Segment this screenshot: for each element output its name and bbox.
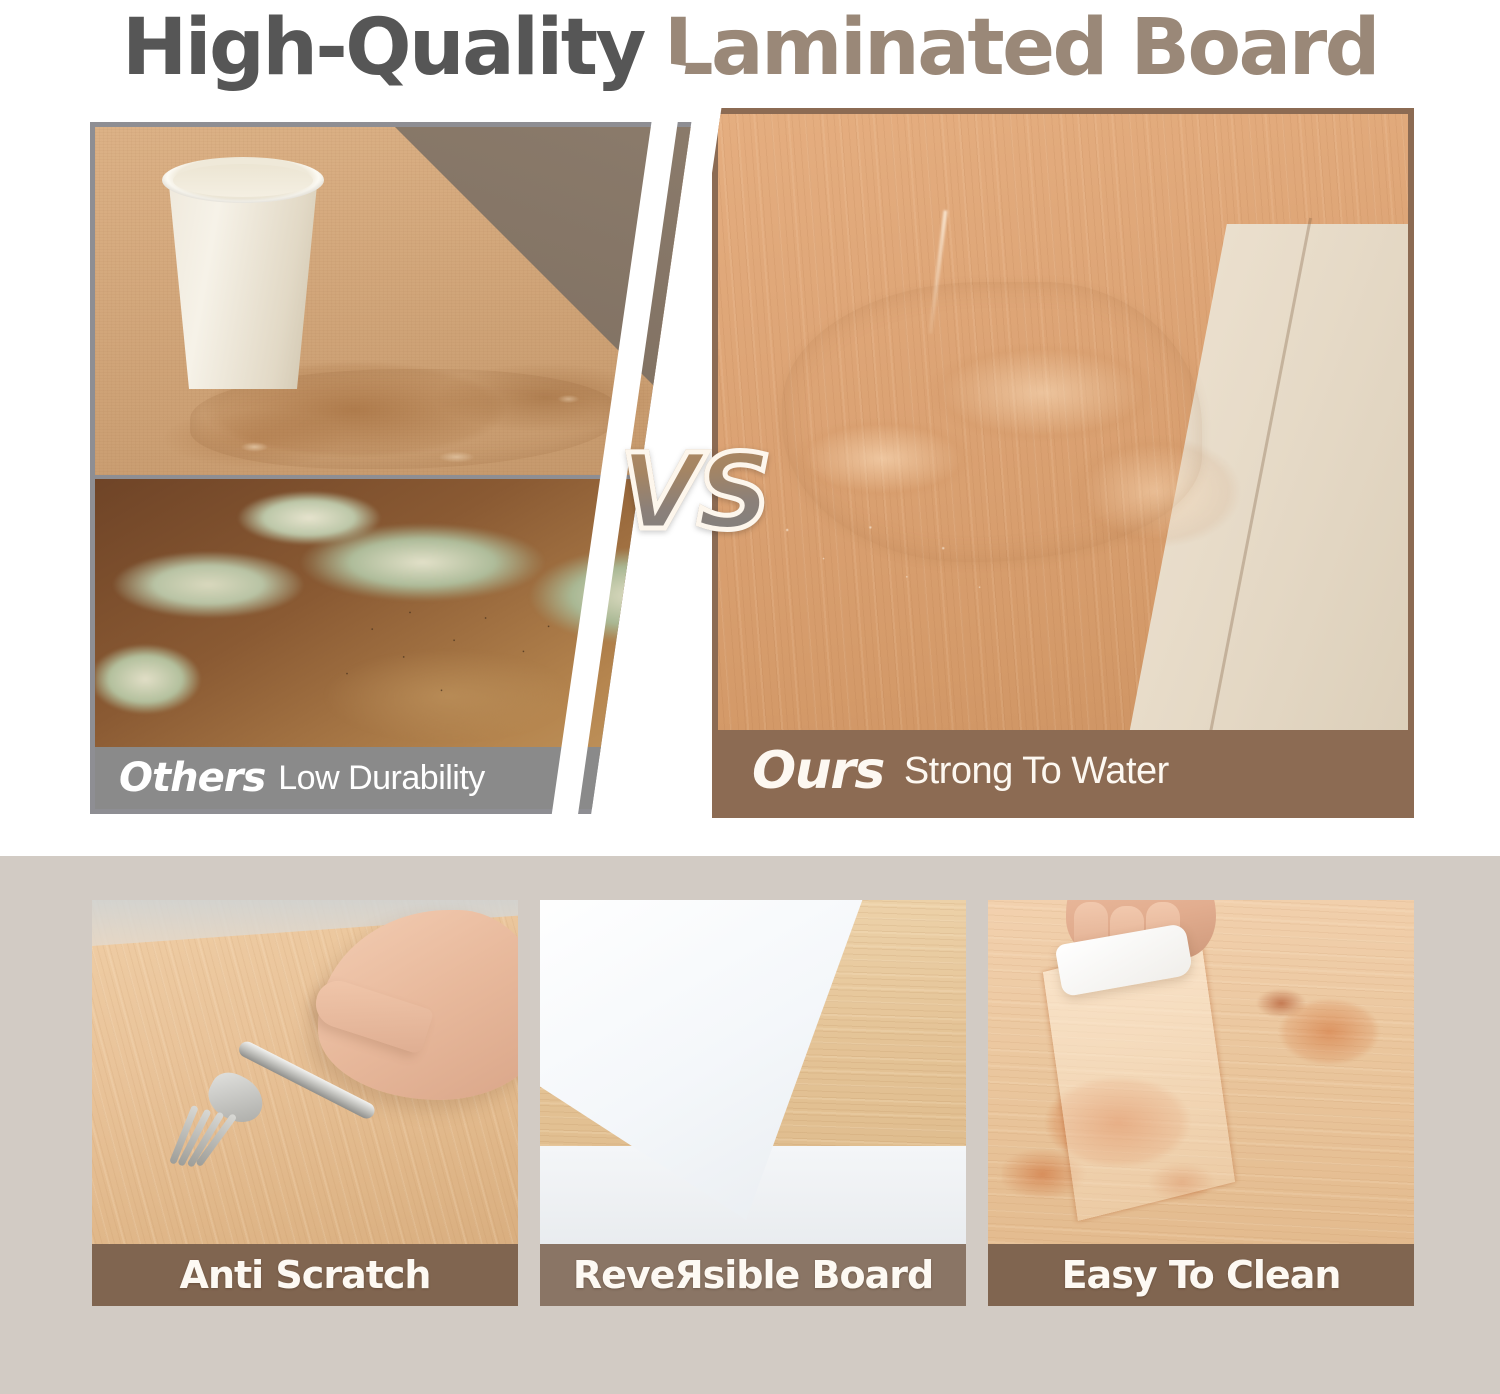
others-subtitle: Low Durability [278,761,485,795]
feature-label: ReveЯsible Board [573,1256,933,1294]
paper-cup-interior [173,164,313,197]
feature-label-bar: Anti Scratch [92,1244,518,1306]
feature-label-bar: Easy To Clean [988,1244,1414,1306]
headline-part-one: High-Quality [122,9,644,87]
ours-frame: Ours Strong To Water [712,108,1414,818]
ours-title: Ours [752,745,884,797]
others-title: Others [119,758,265,798]
water-droplets [756,504,1016,634]
features-section: Anti Scratch ReveЯsible Board [0,856,1500,1394]
white-and-wood-board-faces [540,900,966,1244]
feature-card-easy-to-clean: Easy To Clean [988,900,1414,1306]
feature-card-reversible-board: ReveЯsible Board [540,900,966,1306]
water-beading-photo: Ours Strong To Water [718,114,1408,812]
feature-label: Anti Scratch [180,1256,431,1294]
feature-card-anti-scratch: Anti Scratch [92,900,518,1306]
ours-subtitle: Strong To Water [904,752,1169,790]
versus-label: VS [620,440,767,544]
features-row: Anti Scratch ReveЯsible Board [92,900,1414,1306]
feature-label: Easy To Clean [1062,1256,1341,1294]
ours-caption-bar: Ours Strong To Water [718,730,1408,812]
hand-scratching-board-with-fork [92,900,518,1244]
page-title: High-Quality Laminated Board [0,2,1500,94]
product-infographic: High-Quality Laminated Board [0,0,1500,1394]
feature-label-bar: ReveЯsible Board [540,1244,966,1306]
hand-wiping-sauce-with-cloth [988,900,1414,1244]
versus-badge: VS [594,422,794,562]
headline-part-two: Laminated Board [664,9,1378,87]
sauce-stain [1246,972,1406,1102]
comparison-section: Others Low Durability [0,104,1500,822]
